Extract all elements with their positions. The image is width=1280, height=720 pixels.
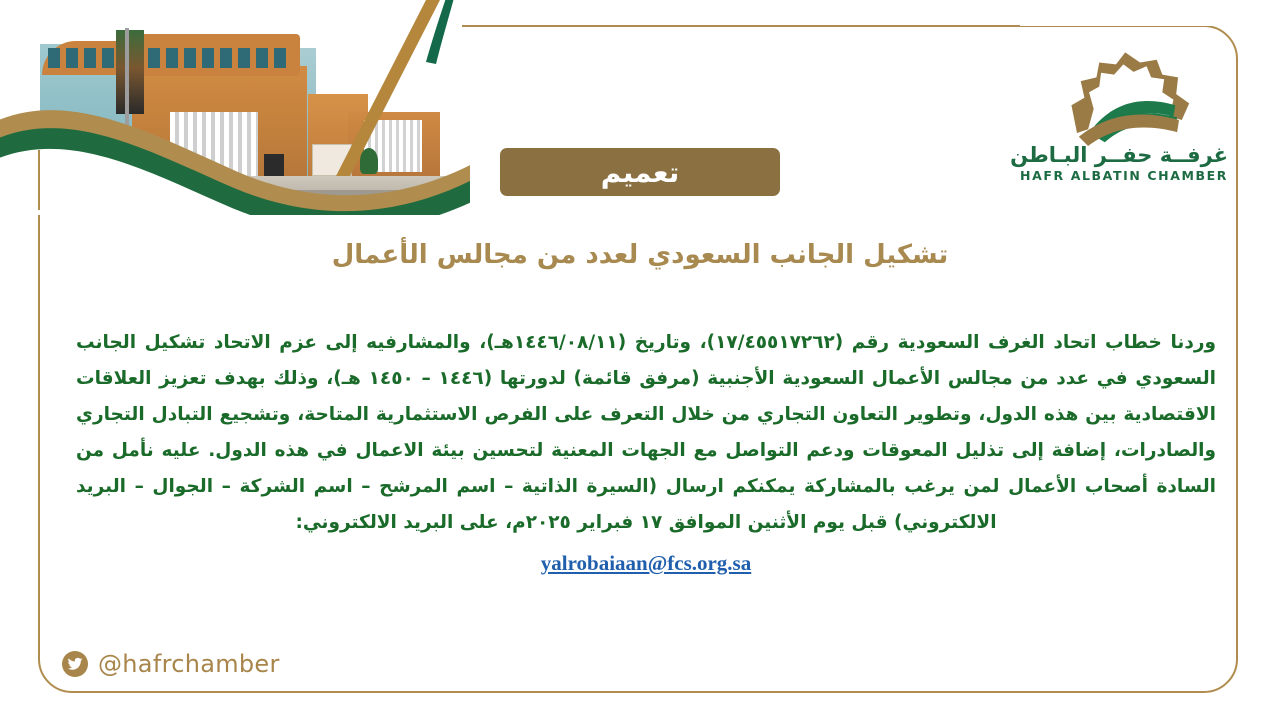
logo-name-english: HAFR ALBATIN CHAMBER bbox=[1028, 168, 1228, 183]
twitter-handle[interactable]: @hafrchamber bbox=[98, 650, 280, 678]
frame-mask-top-right bbox=[1020, 0, 1240, 26]
announcement-page: غرفــة حفــر البـاطن HAFR ALBATIN CHAMBE… bbox=[0, 0, 1280, 720]
email-line: yalrobaiaan@fcs.org.sa bbox=[76, 545, 1216, 583]
social-footer[interactable]: @hafrchamber bbox=[62, 650, 280, 678]
frame-left-connector bbox=[30, 150, 52, 210]
chamber-logo: غرفــة حفــر البـاطن HAFR ALBATIN CHAMBE… bbox=[1028, 44, 1228, 204]
announcement-body: وردنا خطاب اتحاد الغرف السعودية رقم (١٧/… bbox=[76, 325, 1216, 583]
chamber-gear-dunes-logo-icon bbox=[1058, 44, 1198, 146]
contact-email-link[interactable]: yalrobaiaan@fcs.org.sa bbox=[541, 551, 751, 575]
page-title: تشكيل الجانب السعودي لعدد من مجالس الأعم… bbox=[0, 240, 1280, 270]
twitter-bird-icon[interactable] bbox=[62, 651, 88, 677]
logo-dune-brown bbox=[1079, 114, 1179, 146]
logo-name-arabic: غرفــة حفــر البـاطن bbox=[1028, 144, 1228, 167]
circular-badge: تعميم bbox=[500, 148, 780, 196]
header-artwork bbox=[0, 0, 470, 210]
body-paragraph: وردنا خطاب اتحاد الغرف السعودية رقم (١٧/… bbox=[76, 325, 1216, 541]
